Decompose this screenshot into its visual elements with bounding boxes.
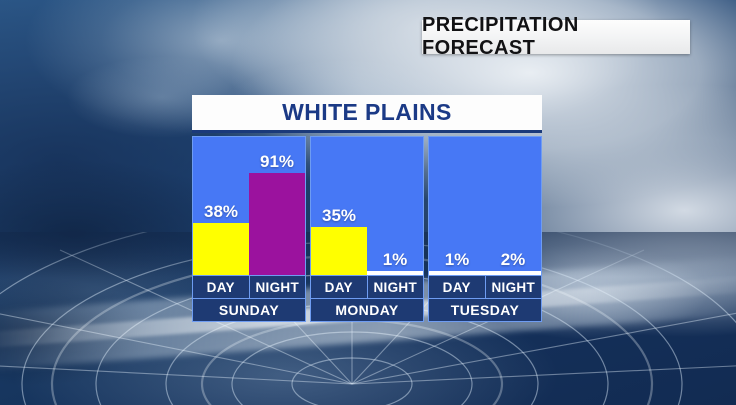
period-label-night: NIGHT: [249, 276, 306, 298]
bar-sunday-day: 38%: [193, 223, 249, 275]
bar-plot-sunday: 38% 91%: [193, 137, 305, 275]
period-label-row-sunday: DAY NIGHT: [193, 275, 305, 298]
bar-tuesday-day: 1%: [429, 271, 485, 275]
forecast-panels: 38% 91% DAY NIGHT SUNDAY: [192, 133, 542, 322]
page-title: WHITE PLAINS: [282, 99, 452, 126]
day-name-row-tuesday: TUESDAY: [429, 298, 541, 321]
period-label-day: DAY: [311, 276, 367, 298]
bar-value-label: 35%: [311, 206, 367, 227]
period-label-row-monday: DAY NIGHT: [311, 275, 423, 298]
period-label-row-tuesday: DAY NIGHT: [429, 275, 541, 298]
bar-value-label: 1%: [429, 250, 485, 271]
bar-monday-day: 35%: [311, 227, 367, 275]
bar-value-label: 38%: [193, 202, 249, 223]
bar-sunday-night: 91%: [249, 173, 305, 275]
banner-label: PRECIPITATION FORECAST: [422, 14, 690, 60]
bar-monday-night: 1%: [367, 271, 423, 275]
bar-column-day: 38%: [193, 137, 249, 275]
bar-column-day: 35%: [311, 137, 367, 275]
bar-value-label: 1%: [367, 250, 423, 271]
forecast-panel-tuesday[interactable]: 1% 2% DAY NIGHT TUESDAY: [428, 136, 542, 322]
period-label-day: DAY: [193, 276, 249, 298]
day-name-row-monday: MONDAY: [311, 298, 423, 321]
forecast-card: WHITE PLAINS 38% 91%: [192, 95, 542, 322]
bar-plot-monday: 35% 1%: [311, 137, 423, 275]
day-name-label: SUNDAY: [219, 302, 279, 318]
bar-value-label: 2%: [485, 250, 541, 271]
bar-column-night: 2%: [485, 137, 541, 275]
bar-value-label: 91%: [249, 152, 305, 173]
day-name-label: TUESDAY: [451, 302, 519, 318]
forecast-panel-sunday[interactable]: 38% 91% DAY NIGHT SUNDAY: [192, 136, 306, 322]
bar-column-night: 91%: [249, 137, 305, 275]
period-label-night: NIGHT: [367, 276, 424, 298]
bar-column-night: 1%: [367, 137, 423, 275]
period-label-day: DAY: [429, 276, 485, 298]
bar-column-day: 1%: [429, 137, 485, 275]
bar-tuesday-night: 2%: [485, 271, 541, 275]
day-name-label: MONDAY: [335, 302, 398, 318]
bar-plot-tuesday: 1% 2%: [429, 137, 541, 275]
card-title-bar: WHITE PLAINS: [192, 95, 542, 133]
forecast-panel-monday[interactable]: 35% 1% DAY NIGHT MONDAY: [310, 136, 424, 322]
precipitation-forecast-banner: PRECIPITATION FORECAST: [422, 20, 690, 54]
period-label-night: NIGHT: [485, 276, 542, 298]
weather-graphic: PRECIPITATION FORECAST WHITE PLAINS 38% …: [0, 0, 736, 405]
day-name-row-sunday: SUNDAY: [193, 298, 305, 321]
